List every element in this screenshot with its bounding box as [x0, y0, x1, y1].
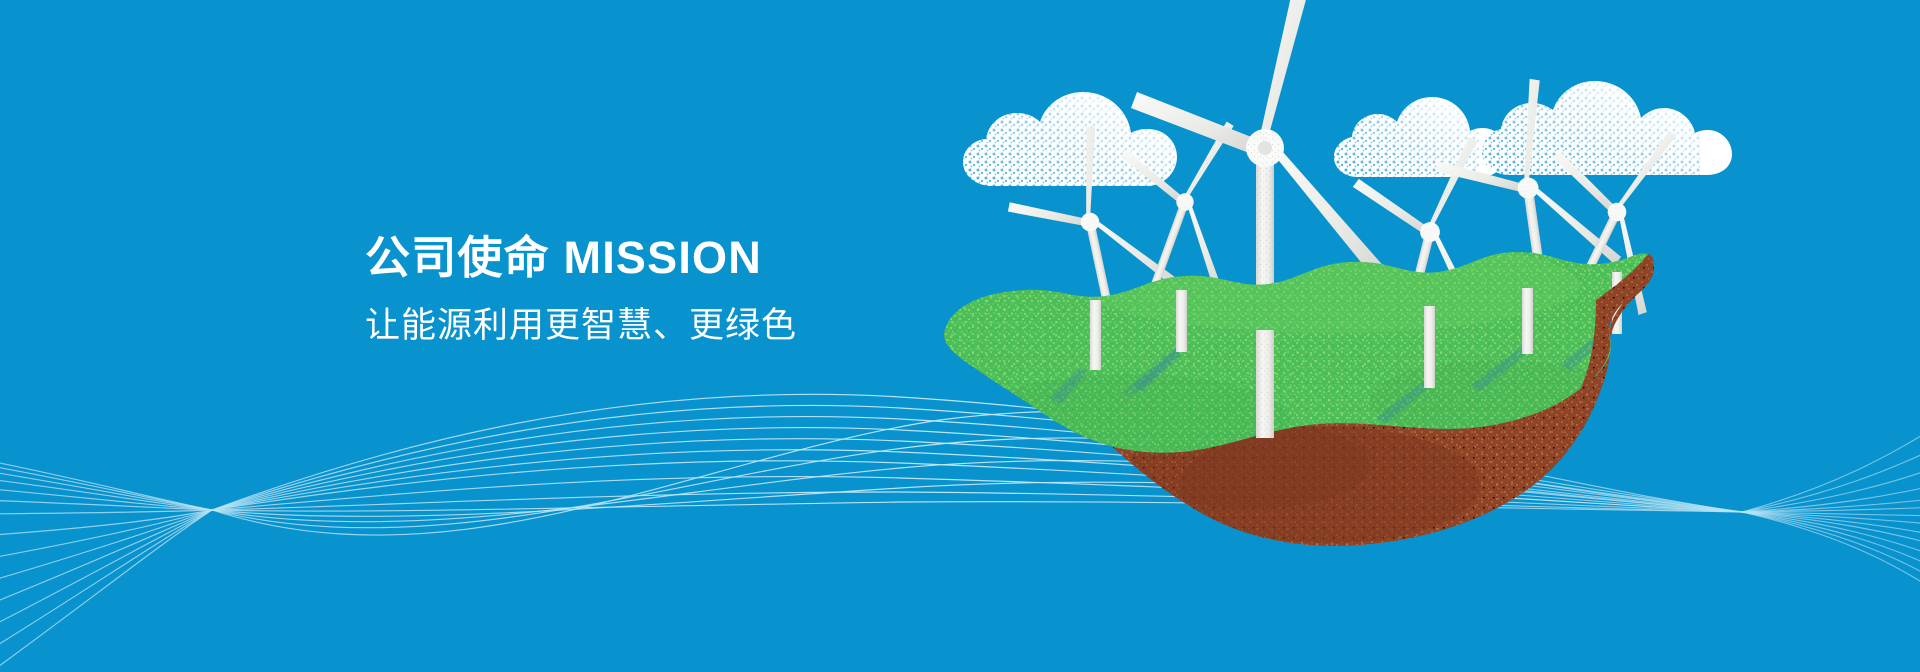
page-title: 公司使命 MISSION — [365, 233, 985, 283]
mission-text-block: 公司使命 MISSION 让能源利用更智慧、更绿色 — [365, 233, 985, 347]
cloud-middle-icon — [1334, 97, 1506, 177]
turbine-4-tower-base — [1424, 306, 1435, 388]
cloud-right-icon — [1482, 81, 1732, 175]
turbine-1-tower-base — [1090, 300, 1101, 370]
page-subtitle: 让能源利用更智慧、更绿色 — [365, 305, 985, 347]
cloud-group — [963, 81, 1732, 186]
mission-banner: 公司使命 MISSION 让能源利用更智慧、更绿色 — [0, 0, 1920, 672]
turbine-5-tower-base — [1522, 288, 1533, 354]
turbine-2-tower-base — [1176, 290, 1187, 352]
